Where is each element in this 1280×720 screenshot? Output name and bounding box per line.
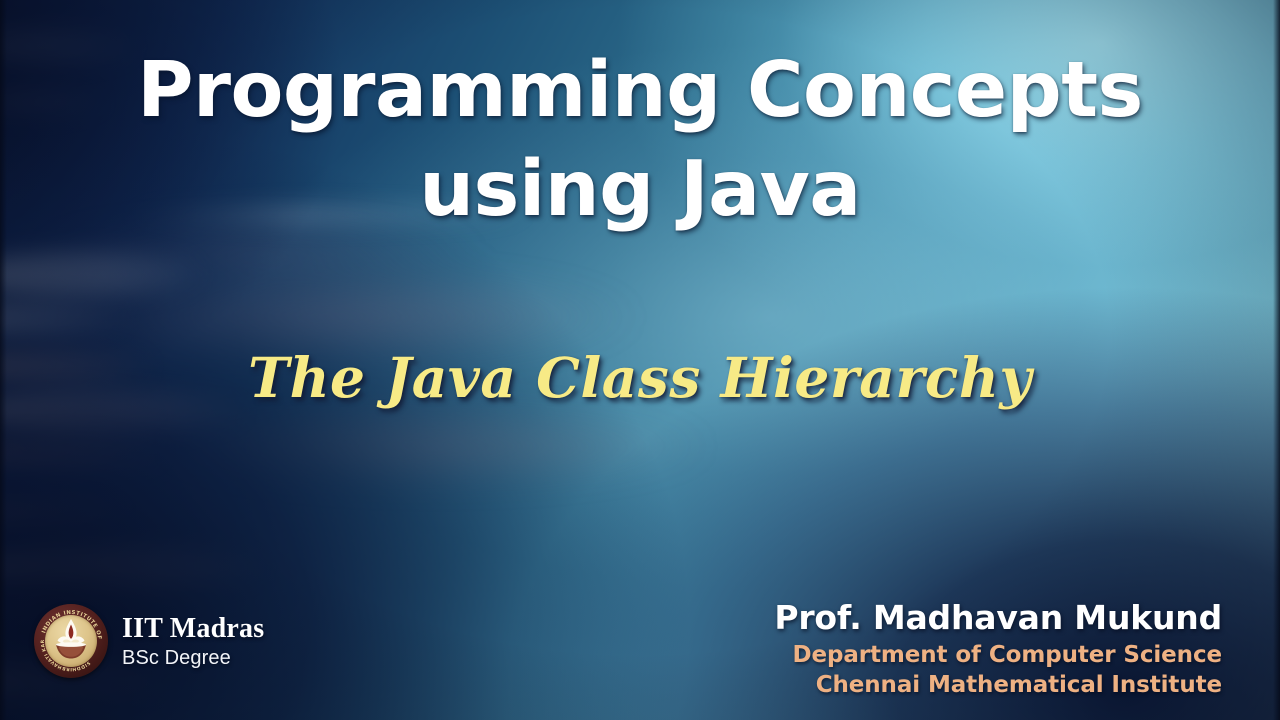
presenter-name: Prof. Madhavan Mukund — [774, 600, 1222, 637]
presenter-department: Department of Computer Science — [774, 641, 1222, 670]
course-title: Programming Concepts using Java — [0, 42, 1280, 239]
course-title-line-2: using Java — [0, 141, 1280, 240]
iit-madras-seal-icon: INDIAN INSTITUTE OF TECHNOLOGY MADRAS SI… — [34, 604, 108, 678]
institution-logo-lockup: INDIAN INSTITUTE OF TECHNOLOGY MADRAS SI… — [34, 604, 264, 678]
lamp-emblem-icon — [45, 615, 97, 667]
institution-program: BSc Degree — [122, 648, 264, 668]
institution-name: IIT Madras — [122, 615, 264, 643]
institution-text: IIT Madras BSc Degree — [122, 615, 264, 668]
presenter-affiliation: Chennai Mathematical Institute — [774, 671, 1222, 700]
title-slide: Programming Concepts using Java The Java… — [0, 0, 1280, 720]
course-title-line-1: Programming Concepts — [0, 42, 1280, 141]
presenter-block: Prof. Madhavan Mukund Department of Comp… — [774, 600, 1222, 701]
slide-content: Programming Concepts using Java The Java… — [0, 0, 1280, 720]
lecture-subtitle: The Java Class Hierarchy — [0, 345, 1280, 410]
